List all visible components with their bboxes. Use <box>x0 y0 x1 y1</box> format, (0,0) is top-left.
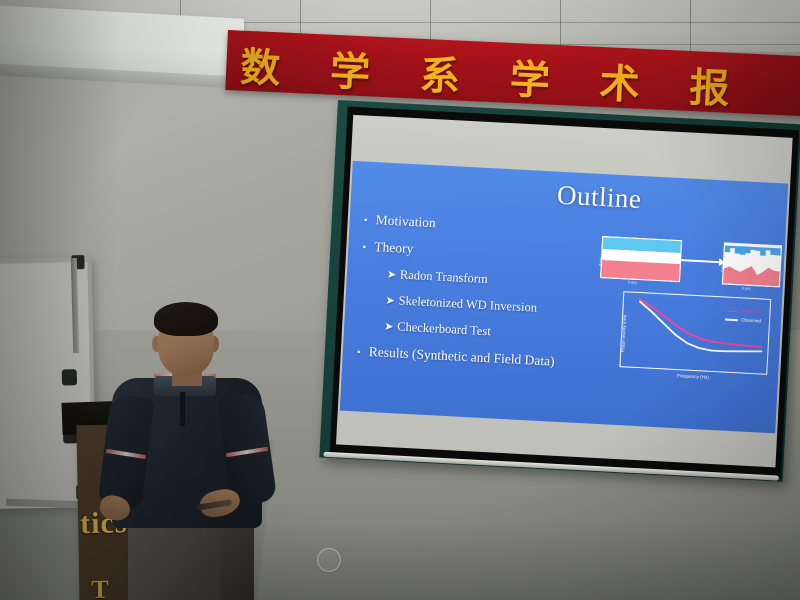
inverted-model-y-axis-label: Z (m) <box>721 264 725 273</box>
arrow-bullet-icon: ➤ <box>387 270 401 282</box>
true-model-x-axis-label: X (m) <box>628 280 637 284</box>
bullet-label: Skeletonized WD Inversion <box>398 293 537 315</box>
arrow-bullet-icon: ➤ <box>384 322 398 334</box>
dispersion-plot-area <box>620 292 770 374</box>
bullet-item-motivation: • Motivation <box>363 212 613 241</box>
legend-entry-observed: Observed <box>725 315 761 326</box>
bullet-dot-icon: • <box>357 347 370 359</box>
bullet-item-radon-transform: ➤ Radon Transform <box>361 265 611 293</box>
legend-label-observed: Observed <box>741 316 761 326</box>
inverted-model-plot <box>723 243 781 286</box>
velocity-layer-bottom <box>601 260 680 281</box>
bullet-item-theory: • Theory <box>362 238 612 267</box>
bullet-label: Checkerboard Test <box>397 319 491 339</box>
inverted-model-x-axis-label: X (m) <box>742 286 751 290</box>
lecture-hall-photo: 数 学 系 学 术 报 Outline • Motivation • Theor… <box>0 0 800 600</box>
slide-bullet-list: • Motivation • Theory ➤ Radon Transform … <box>356 212 614 384</box>
true-velocity-model-panel <box>600 236 682 282</box>
legend-swatch-observed <box>725 319 738 321</box>
bullet-item-skeletonized-wd-inversion: ➤ Skeletonized WD Inversion <box>359 291 609 319</box>
bullet-label: Results (Synthetic and Field Data) <box>368 344 555 370</box>
bullet-label: Radon Transform <box>400 267 489 287</box>
bullet-dot-icon: • <box>362 242 375 254</box>
presenter-hair <box>154 302 218 336</box>
bullet-dot-icon: • <box>363 216 376 228</box>
bullet-item-checkerboard-test: ➤ Checkerboard Test <box>358 317 608 345</box>
wall-shadow <box>220 520 800 600</box>
inverted-velocity-model-panel <box>722 242 782 287</box>
chart-legend: Predicted Observed <box>725 307 762 326</box>
screen-surface: Outline • Motivation • Theory ➤ Radon Tr… <box>336 115 793 468</box>
velocity-model-figure: Z (m) X (m) Z (m) X (m) <box>600 236 780 295</box>
true-model-y-axis-label: Z (m) <box>599 257 603 266</box>
bullet-label: Motivation <box>375 212 436 231</box>
legend-swatch-predicted <box>726 310 739 312</box>
dispersion-curve-chart: Predicted Observed Phase velocity (m/s) … <box>619 291 771 375</box>
whiteboard-clamp <box>62 369 77 385</box>
projection-screen: Outline • Motivation • Theory ➤ Radon Tr… <box>319 100 800 494</box>
arrow-bullet-icon: ➤ <box>385 296 399 308</box>
presentation-slide: Outline • Motivation • Theory ➤ Radon Tr… <box>340 161 788 433</box>
shirt-placket <box>180 392 185 426</box>
arrow-shaft <box>681 259 721 263</box>
bullet-label: Theory <box>374 239 414 257</box>
bullet-item-results: • Results (Synthetic and Field Data) <box>356 343 606 372</box>
